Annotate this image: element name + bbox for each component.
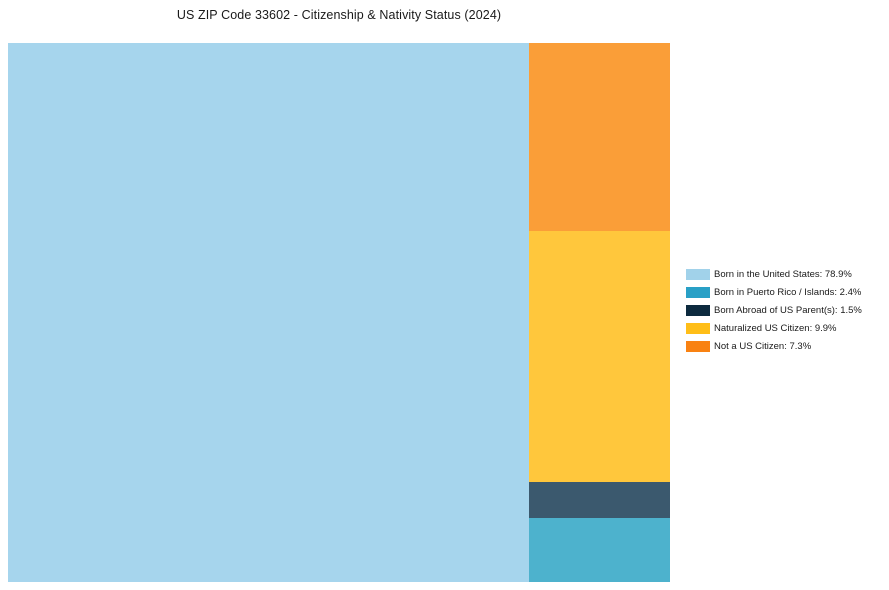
legend-item-label: Naturalized US Citizen: 9.9% bbox=[714, 323, 837, 334]
legend-swatch-icon bbox=[686, 305, 710, 316]
legend-item-naturalized-us-citizen[interactable]: Naturalized US Citizen: 9.9% bbox=[686, 319, 882, 337]
legend-item-not-a-us-citizen[interactable]: Not a US Citizen: 7.3% bbox=[686, 337, 882, 355]
legend-item-born-in-the-united-states[interactable]: Born in the United States: 78.9% bbox=[686, 265, 882, 283]
chart-legend: Born in the United States: 78.9% Born in… bbox=[686, 265, 882, 355]
treemap-plot-area: Born in the United States Not a US Citiz… bbox=[8, 43, 670, 582]
legend-swatch-icon bbox=[686, 323, 710, 334]
legend-item-label: Born Abroad of US Parent(s): 1.5% bbox=[714, 305, 862, 316]
treemap-tile-not-a-us-citizen[interactable]: Not a US Citizen bbox=[529, 43, 670, 231]
legend-item-label: Not a US Citizen: 7.3% bbox=[714, 341, 811, 352]
legend-swatch-icon bbox=[686, 269, 710, 280]
legend-swatch-icon bbox=[686, 341, 710, 352]
treemap-tile-born-in-the-united-states[interactable]: Born in the United States bbox=[8, 43, 529, 582]
treemap-tile-naturalized-us-citizen[interactable]: Naturalized US Citizen bbox=[529, 231, 670, 482]
legend-item-born-in-puerto-rico-islands[interactable]: Born in Puerto Rico / Islands: 2.4% bbox=[686, 283, 882, 301]
treemap-tile-born-in-puerto-rico-islands[interactable]: Born in Puerto Rico / Islands bbox=[529, 518, 670, 582]
chart-title: US ZIP Code 33602 - Citizenship & Nativi… bbox=[0, 8, 678, 22]
legend-swatch-icon bbox=[686, 287, 710, 298]
legend-item-born-abroad-of-us-parents[interactable]: Born Abroad of US Parent(s): 1.5% bbox=[686, 301, 882, 319]
legend-item-label: Born in Puerto Rico / Islands: 2.4% bbox=[714, 287, 861, 298]
treemap-figure: US ZIP Code 33602 - Citizenship & Nativi… bbox=[0, 0, 889, 590]
legend-item-label: Born in the United States: 78.9% bbox=[714, 269, 852, 280]
treemap-tile-born-abroad-of-us-parents[interactable]: Born Abroad of US Parent(s) bbox=[529, 482, 670, 518]
